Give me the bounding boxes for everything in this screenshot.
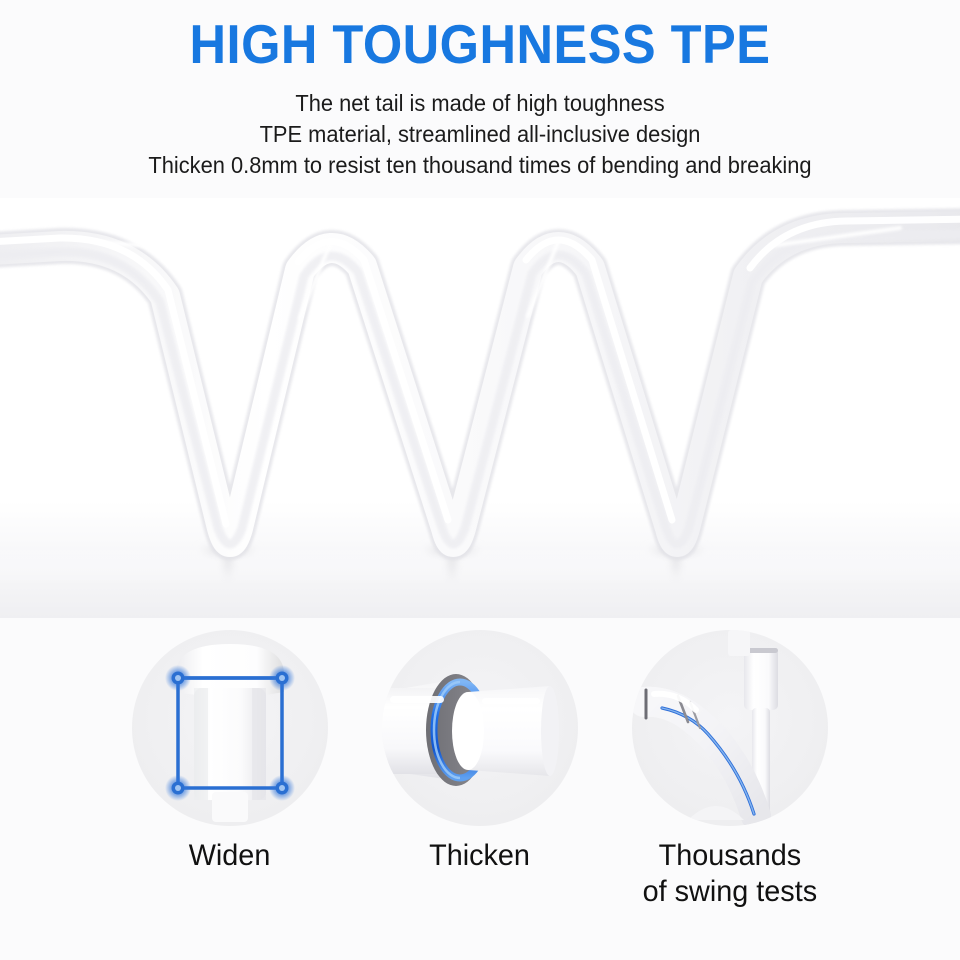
feature-label-widen: Widen — [189, 838, 271, 874]
feature-label-thicken: Thicken — [430, 838, 531, 874]
feature-item-widen: Widen — [105, 630, 355, 874]
subtitle-line-3: Thicken 0.8mm to resist ten thousand tim… — [24, 150, 936, 181]
cable-bend-swing-test-icon — [632, 630, 828, 826]
feature-label-swing-tests: Thousands of swing tests — [643, 838, 817, 910]
subtitle-line-2: TPE material, streamlined all-inclusive … — [24, 119, 936, 150]
subtitle-line-1: The net tail is made of high toughness — [24, 88, 936, 119]
subtitle-block: The net tail is made of high toughness T… — [24, 74, 936, 181]
product-feature-infographic: HIGH TOUGHNESS TPE The net tail is made … — [0, 0, 960, 960]
hero-cable-image — [0, 198, 960, 618]
feature-item-thicken: Thicken — [355, 630, 605, 874]
feature-label-line1: Thicken — [430, 839, 531, 872]
cable-connector-width-measure-icon — [132, 630, 328, 826]
page-title: HIGH TOUGHNESS TPE — [38, 0, 921, 74]
header: HIGH TOUGHNESS TPE The net tail is made … — [0, 0, 960, 181]
cable-illustration — [0, 198, 960, 618]
cable-cross-section-thickness-icon — [382, 630, 578, 826]
feature-item-swing-tests: Thousands of swing tests — [605, 630, 855, 910]
feature-list: Widen — [0, 630, 960, 960]
feature-label-line1: Widen — [189, 839, 271, 872]
feature-label-line2: of swing tests — [643, 874, 817, 910]
feature-label-line1: Thousands — [659, 839, 802, 872]
